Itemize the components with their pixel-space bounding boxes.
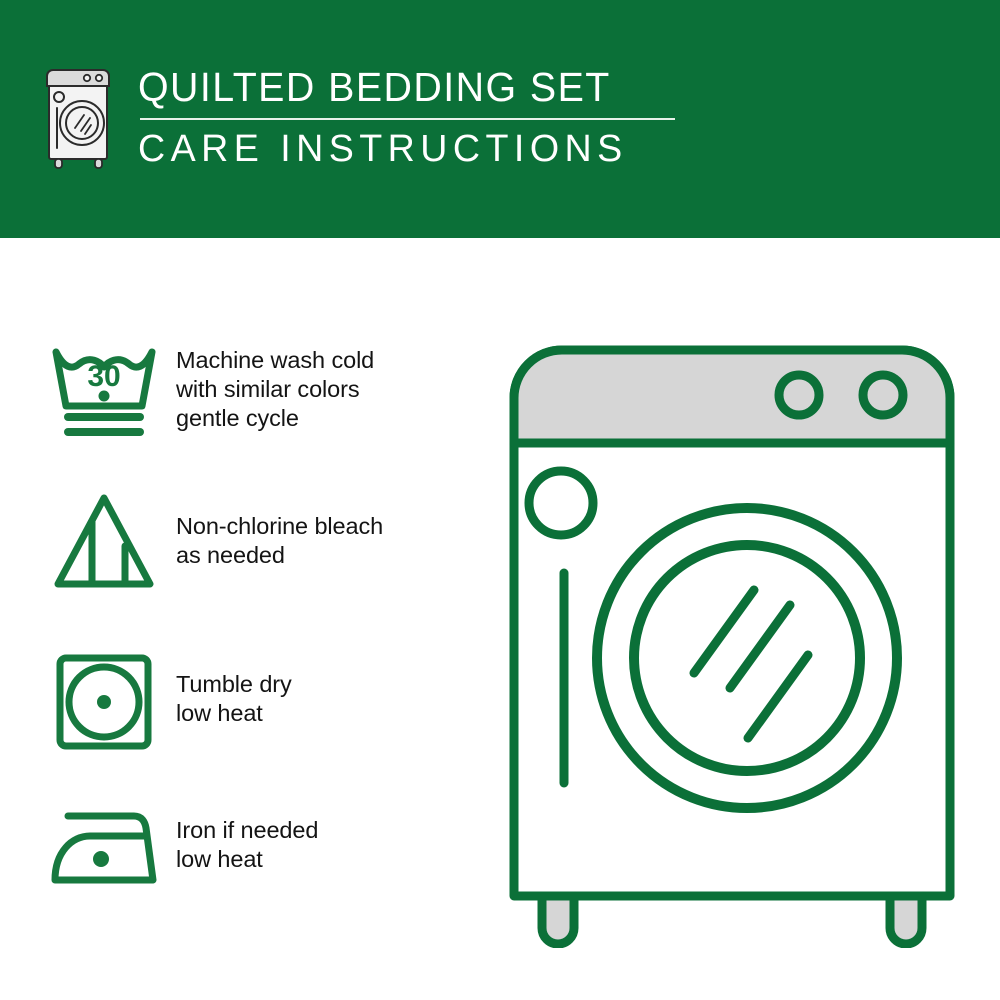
- care-text-line: Machine wash cold: [176, 346, 374, 375]
- header-titles: QUILTED BEDDING SET CARE INSTRUCTIONS: [138, 64, 675, 171]
- page-title: QUILTED BEDDING SET: [138, 64, 654, 110]
- wash-tub-30-gentle-icon: 30: [46, 334, 162, 450]
- non-chlorine-bleach-triangle-icon: [46, 484, 162, 600]
- wash-temperature-label: 30: [87, 360, 120, 393]
- tumble-dry-low-heat-icon: [46, 642, 162, 758]
- care-text-iron: Iron if needed low heat: [176, 790, 318, 874]
- front-load-washing-machine-illustration: [492, 328, 972, 948]
- washing-machine-icon: [44, 66, 120, 171]
- care-text-line: low heat: [176, 845, 318, 874]
- care-text-wash: Machine wash cold with similar colors ge…: [176, 334, 374, 433]
- care-text-bleach: Non-chlorine bleach as needed: [176, 484, 383, 570]
- title-divider: [140, 118, 675, 120]
- care-text-line: as needed: [176, 541, 383, 570]
- care-text-line: Iron if needed: [176, 816, 318, 845]
- care-instruction-list: 30 Machine wash cold with similar colors…: [0, 238, 480, 1000]
- iron-low-heat-icon: [46, 790, 162, 906]
- header-content: QUILTED BEDDING SET CARE INSTRUCTIONS: [44, 64, 675, 171]
- care-text-line: Tumble dry: [176, 670, 292, 699]
- care-text-line: gentle cycle: [176, 404, 374, 433]
- care-text-dry: Tumble dry low heat: [176, 642, 292, 728]
- header-band: QUILTED BEDDING SET CARE INSTRUCTIONS: [0, 0, 1000, 238]
- care-row-iron: Iron if needed low heat: [46, 790, 466, 906]
- care-instructions-infographic: QUILTED BEDDING SET CARE INSTRUCTIONS 30: [0, 0, 1000, 1000]
- care-text-line: with similar colors: [176, 375, 374, 404]
- care-text-line: Non-chlorine bleach: [176, 512, 383, 541]
- care-row-dry: Tumble dry low heat: [46, 642, 466, 758]
- care-row-bleach: Non-chlorine bleach as needed: [46, 484, 466, 600]
- care-text-line: low heat: [176, 699, 292, 728]
- care-row-wash: 30 Machine wash cold with similar colors…: [46, 334, 466, 450]
- page-subtitle: CARE INSTRUCTIONS: [138, 127, 670, 171]
